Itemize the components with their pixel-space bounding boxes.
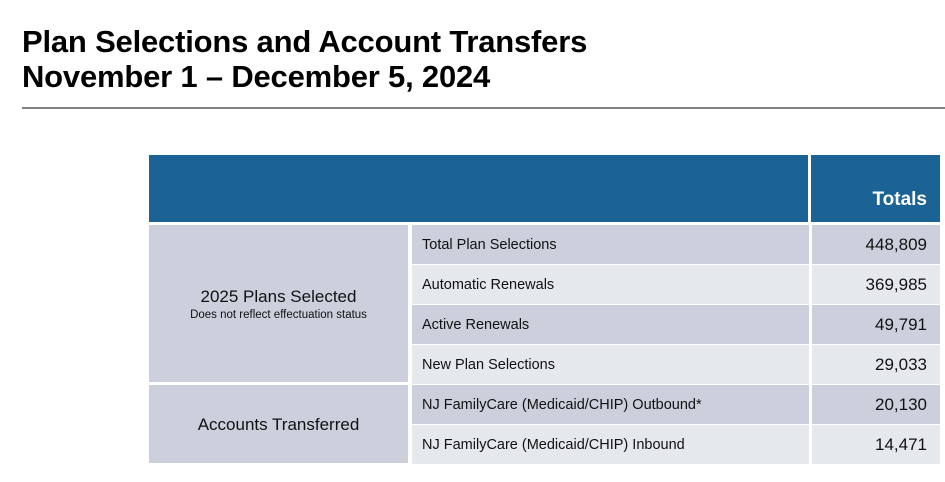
table-row: NJ FamilyCare (Medicaid/CHIP) Outbound* …	[412, 385, 940, 424]
row-description: NJ FamilyCare (Medicaid/CHIP) Inbound	[412, 425, 809, 464]
rows-column: Total Plan Selections 448,809 Automatic …	[412, 225, 940, 464]
table-row: Total Plan Selections 448,809	[412, 225, 940, 264]
category-column: 2025 Plans Selected Does not reflect eff…	[149, 225, 408, 464]
row-total-value: 448,809	[812, 225, 940, 264]
category-label: 2025 Plans Selected	[201, 286, 357, 307]
row-description: NJ FamilyCare (Medicaid/CHIP) Outbound*	[412, 385, 809, 424]
table-row: New Plan Selections 29,033	[412, 345, 940, 384]
row-description: Automatic Renewals	[412, 265, 809, 304]
table-header-totals: Totals	[811, 155, 940, 222]
row-total-value: 20,130	[812, 385, 940, 424]
row-description: New Plan Selections	[412, 345, 809, 384]
category-cell-plans-selected: 2025 Plans Selected Does not reflect eff…	[149, 225, 408, 382]
row-total-value: 49,791	[812, 305, 940, 344]
table-body: 2025 Plans Selected Does not reflect eff…	[149, 225, 940, 464]
row-description: Active Renewals	[412, 305, 809, 344]
category-label: Accounts Transferred	[198, 414, 360, 435]
table-header-blank-cell	[149, 155, 808, 222]
table-header-row: Totals	[149, 155, 940, 222]
row-total-value: 29,033	[812, 345, 940, 384]
row-description: Total Plan Selections	[412, 225, 809, 264]
summary-table: Totals 2025 Plans Selected Does not refl…	[149, 155, 940, 464]
table-row: Automatic Renewals 369,985	[412, 265, 940, 304]
category-cell-accounts-transferred: Accounts Transferred	[149, 385, 408, 463]
title-line-2: November 1 – December 5, 2024	[22, 59, 927, 94]
row-total-value: 14,471	[812, 425, 940, 464]
page-title: Plan Selections and Account Transfers No…	[22, 24, 927, 94]
title-divider-rule	[22, 107, 945, 109]
title-line-1: Plan Selections and Account Transfers	[22, 24, 927, 59]
table-row: Active Renewals 49,791	[412, 305, 940, 344]
table-row: NJ FamilyCare (Medicaid/CHIP) Inbound 14…	[412, 425, 940, 464]
category-sublabel: Does not reflect effectuation status	[190, 308, 367, 322]
row-total-value: 369,985	[812, 265, 940, 304]
